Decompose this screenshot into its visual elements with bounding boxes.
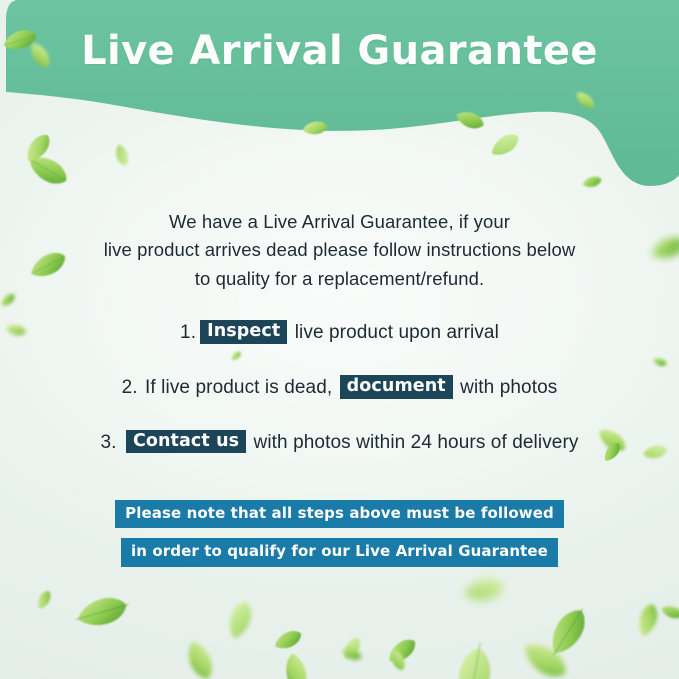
intro-line-3: to quality for a replacement/refund. <box>62 265 617 293</box>
step-item-2: 2. If live product is dead, document wit… <box>30 375 649 400</box>
note-banner: Please note that all steps above must be… <box>0 500 679 577</box>
step-1-text-after: live product upon arrival <box>289 322 499 343</box>
step-2-text-after: with photos <box>455 377 558 398</box>
note-bar-line-2: in order to qualify for our Live Arrival… <box>121 538 558 566</box>
intro-paragraph: We have a Live Arrival Guarantee, if you… <box>62 208 617 293</box>
step-3-highlight-contact-us[interactable]: Contact us <box>126 430 246 454</box>
page-title: Live Arrival Guarantee <box>0 28 679 74</box>
step-1-number: 1. <box>180 322 196 343</box>
note-bar-line-1: Please note that all steps above must be… <box>115 500 564 528</box>
note-row-2: in order to qualify for our Live Arrival… <box>0 538 679 566</box>
step-3-text-after: with photos within 24 hours of delivery <box>248 432 578 453</box>
step-3-number: 3. <box>101 432 117 453</box>
step-1-highlight-inspect[interactable]: Inspect <box>200 320 287 344</box>
step-2-text-before: If live product is dead, <box>140 377 338 398</box>
step-3-text-before <box>119 432 124 453</box>
intro-line-1: We have a Live Arrival Guarantee, if you… <box>62 208 617 236</box>
step-item-1: 1.Inspect live product upon arrival <box>30 320 649 345</box>
note-row-1: Please note that all steps above must be… <box>0 500 679 528</box>
steps-list: 1.Inspect live product upon arrival 2. I… <box>30 320 649 484</box>
guarantee-graphic: Live Arrival Guarantee We have a Live Ar… <box>0 0 679 679</box>
step-2-highlight-document[interactable]: document <box>340 375 453 399</box>
intro-line-2: live product arrives dead please follow … <box>62 236 617 264</box>
step-item-3: 3. Contact us with photos within 24 hour… <box>30 430 649 455</box>
step-2-number: 2. <box>122 377 138 398</box>
